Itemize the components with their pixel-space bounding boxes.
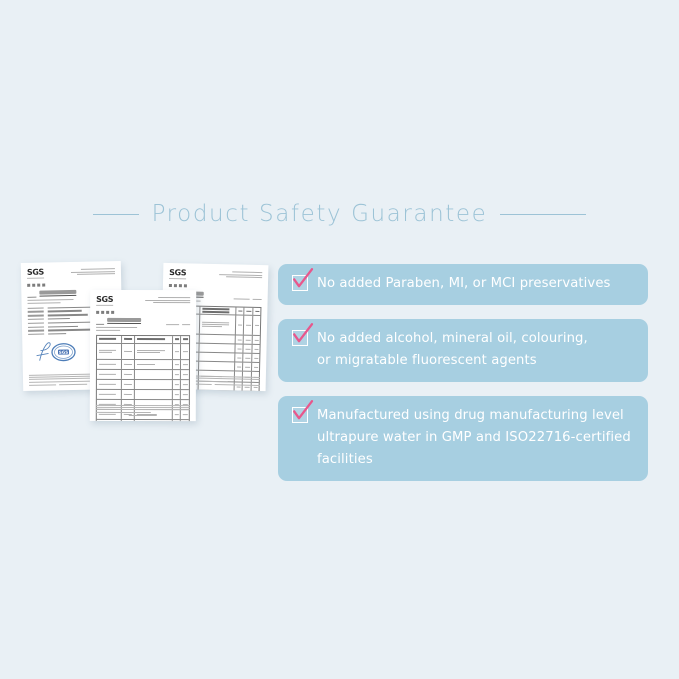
list-item-line: No added Paraben, MI, or MCI preservativ… [317, 273, 611, 295]
document-header-meta [214, 271, 262, 280]
list-item-line: ultrapure water in GMP and ISO22716-cert… [317, 427, 631, 449]
checkbox-checked-icon [292, 330, 308, 346]
document-header-meta [67, 268, 115, 277]
page-title: Product Safety Guarantee [152, 201, 488, 227]
safety-guarantee-list: No added Paraben, MI, or MCI preservativ… [278, 264, 648, 495]
divider-line-right-icon [500, 214, 586, 215]
page-title-block: Product Safety Guarantee [0, 196, 679, 232]
list-item-line: or migratable fluorescent agents [317, 350, 588, 372]
list-item-text: Manufactured using drug manufacturing le… [317, 405, 631, 471]
list-item: Manufactured using drug manufacturing le… [278, 396, 648, 481]
certificate-document-middle: SGS [90, 290, 196, 421]
list-item-line: facilities [317, 449, 631, 471]
checkbox-checked-icon [292, 407, 308, 423]
document-subtitle [96, 311, 190, 314]
list-item: No added Paraben, MI, or MCI preservativ… [278, 264, 648, 305]
promo-panel: Product Safety Guarantee No added Parabe… [0, 0, 679, 679]
list-item-line: No added alcohol, mineral oil, colouring… [317, 328, 588, 350]
divider-line-left-icon [93, 214, 139, 215]
list-item-text: No added alcohol, mineral oil, colouring… [317, 328, 588, 372]
document-footer [96, 401, 190, 417]
certificate-stack: SGS [14, 250, 279, 430]
list-item: No added alcohol, mineral oil, colouring… [278, 319, 648, 382]
list-item-line: Manufactured using drug manufacturing le… [317, 405, 631, 427]
document-subtitle [169, 284, 262, 289]
document-subtitle [27, 282, 115, 287]
svg-text:SGS: SGS [59, 350, 68, 355]
sgs-seal-stamp-icon: SGS [35, 338, 79, 365]
document-header-meta [142, 297, 190, 305]
list-item-text: No added Paraben, MI, or MCI preservativ… [317, 273, 611, 295]
checkbox-checked-icon [292, 275, 308, 291]
